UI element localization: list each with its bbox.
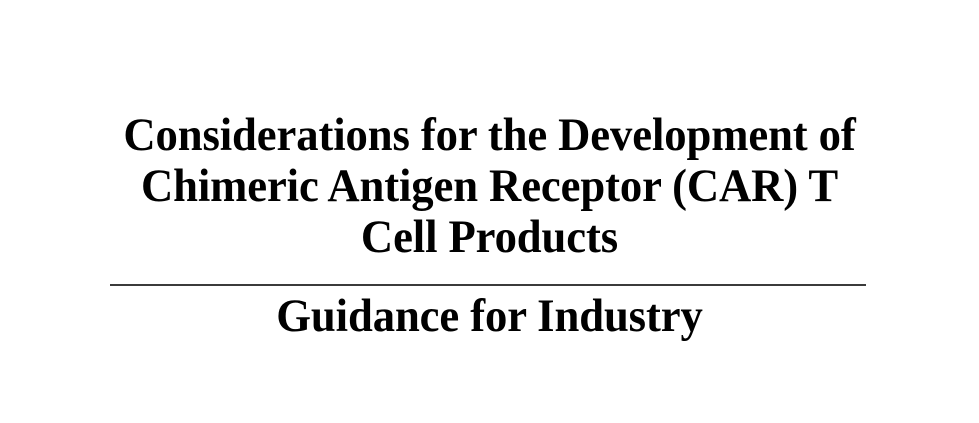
document-title: Considerations for the Development of Ch… [0, 110, 979, 263]
title-line-1: Considerations for the Development of [24, 110, 954, 161]
title-line-2: Chimeric Antigen Receptor (CAR) T [24, 161, 954, 212]
document-title-page: Considerations for the Development of Ch… [0, 0, 979, 423]
subtitle-text: Guidance for Industry [24, 291, 954, 342]
title-line-3: Cell Products [24, 212, 954, 263]
title-divider [0, 284, 979, 287]
document-subtitle: Guidance for Industry [0, 291, 979, 342]
horizontal-rule [110, 284, 866, 286]
